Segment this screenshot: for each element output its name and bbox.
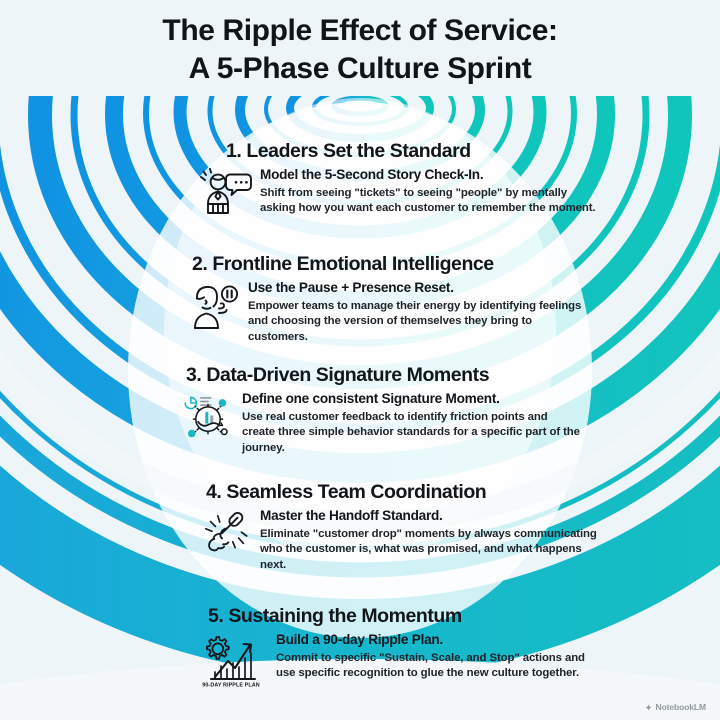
phase-4-subhead: Master the Handoff Standard. bbox=[260, 508, 598, 525]
phase-1-heading: 1. Leaders Set the Standard bbox=[198, 140, 598, 163]
title-line-2: A 5-Phase Culture Sprint bbox=[0, 50, 720, 88]
infographic-poster: The Ripple Effect of Service: A 5-Phase … bbox=[0, 0, 720, 720]
phase-5-subhead: Build a 90-day Ripple Plan. bbox=[276, 632, 602, 649]
phase-5-icon-caption: 90-DAY RIPPLE PLAN bbox=[202, 683, 260, 689]
gear-growth-chart-icon: 90-DAY RIPPLE PLAN bbox=[202, 633, 270, 687]
person-speech-bubble-icon bbox=[198, 168, 254, 222]
notebooklm-logo-icon bbox=[644, 703, 653, 712]
phase-item-3: 3. Data-Driven Signature Moments bbox=[180, 364, 580, 456]
title-line-1: The Ripple Effect of Service: bbox=[0, 12, 720, 50]
phase-3-description: Use real customer feedback to identify f… bbox=[242, 410, 580, 456]
phase-2-subhead: Use the Pause + Presence Reset. bbox=[248, 280, 586, 297]
watermark: NotebookLM bbox=[644, 702, 706, 712]
data-network-chart-icon bbox=[180, 392, 236, 446]
phase-2-heading: 2. Frontline Emotional Intelligence bbox=[186, 253, 586, 276]
phase-5-description: Commit to specific "Sustain, Scale, and … bbox=[276, 651, 602, 682]
phase-4-heading: 4. Seamless Team Coordination bbox=[198, 481, 598, 504]
phase-item-1: 1. Leaders Set the Standard bbox=[198, 140, 598, 222]
phase-2-description: Empower teams to manage their energy by … bbox=[248, 299, 586, 345]
phase-1-subhead: Model the 5-Second Story Check-In. bbox=[260, 167, 598, 184]
relay-baton-handoff-icon bbox=[198, 509, 254, 563]
phase-item-5: 5. Sustaining the Momentum 90-DAY RIPPLE… bbox=[202, 605, 602, 687]
watermark-label: NotebookLM bbox=[656, 702, 706, 712]
phase-4-description: Eliminate "customer drop" moments by alw… bbox=[260, 527, 598, 573]
phase-3-heading: 3. Data-Driven Signature Moments bbox=[180, 364, 580, 387]
person-breathing-pause-icon bbox=[186, 281, 242, 335]
phase-item-4: 4. Seamless Team Coordination bbox=[198, 481, 598, 573]
page-title: The Ripple Effect of Service: A 5-Phase … bbox=[0, 12, 720, 89]
phase-5-heading: 5. Sustaining the Momentum bbox=[202, 605, 602, 628]
phase-1-description: Shift from seeing "tickets" to seeing "p… bbox=[260, 186, 598, 217]
phase-3-subhead: Define one consistent Signature Moment. bbox=[242, 391, 580, 408]
phase-item-2: 2. Frontline Emotional Intelligence bbox=[186, 253, 586, 345]
